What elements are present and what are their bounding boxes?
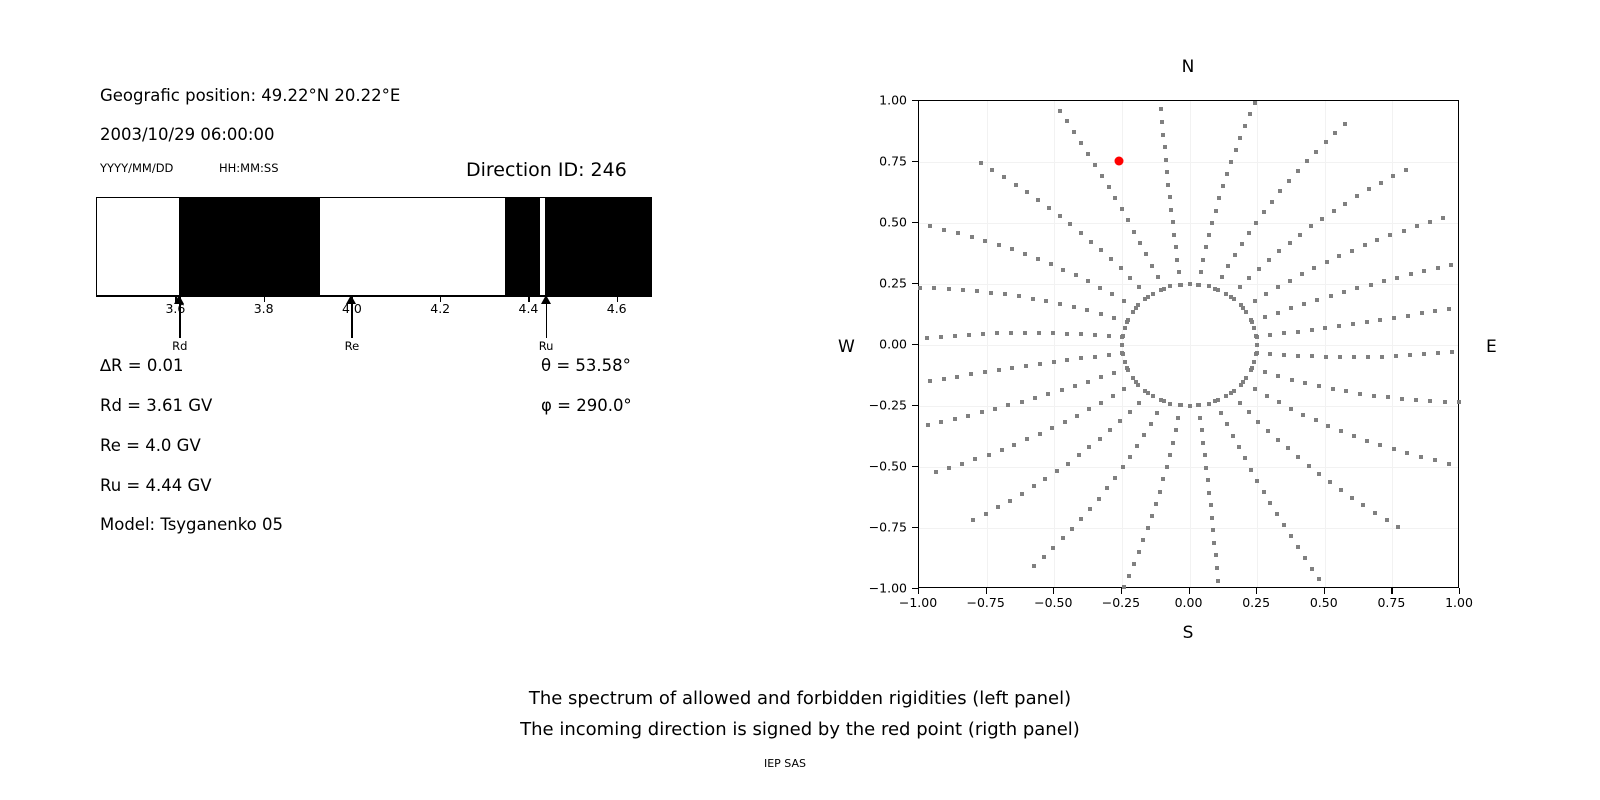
direction-point <box>1036 198 1040 202</box>
arrow-head-icon <box>346 295 356 304</box>
direction-point <box>1160 120 1164 124</box>
direction-point <box>1100 174 1104 178</box>
direction-point <box>1380 355 1384 359</box>
direction-point <box>1449 263 1453 267</box>
direction-point <box>1367 187 1371 191</box>
direction-point <box>1256 420 1260 424</box>
direction-point <box>1000 448 1004 452</box>
left-panel: Geografic position: 49.22°N 20.22°E 2003… <box>0 0 800 800</box>
direction-point <box>1023 252 1027 256</box>
direction-point <box>1123 326 1127 330</box>
direction-point <box>1123 360 1127 364</box>
direction-point <box>1121 465 1125 469</box>
direction-point <box>960 462 964 466</box>
direction-point <box>942 228 946 232</box>
direction-point <box>1414 398 1418 402</box>
direction-point <box>1350 249 1354 253</box>
direction-point <box>1249 368 1253 372</box>
direction-point <box>1212 541 1216 545</box>
direction-point <box>1215 566 1219 570</box>
direction-point <box>1207 491 1211 495</box>
direction-point <box>1111 394 1115 398</box>
direction-map-plot-area <box>918 100 1459 588</box>
direction-point <box>1099 375 1103 379</box>
direction-point <box>1262 210 1266 214</box>
direction-point <box>1263 315 1267 319</box>
compass-south-label: S <box>1183 623 1194 643</box>
direction-point <box>1220 275 1224 279</box>
y-axis-tick <box>912 161 918 162</box>
direction-point <box>1388 233 1392 237</box>
direction-point <box>1325 260 1329 264</box>
direction-point <box>1033 396 1037 400</box>
direction-point <box>1132 562 1136 566</box>
direction-point <box>1146 526 1150 530</box>
direction-point <box>1079 332 1083 336</box>
direction-point <box>1214 209 1218 213</box>
direction-point <box>1207 233 1211 237</box>
direction-point <box>1175 258 1179 262</box>
direction-point <box>1087 445 1091 449</box>
x-axis-tick <box>918 588 919 594</box>
direction-point <box>1079 141 1083 145</box>
spectrum-tick-label: 4.4 <box>518 301 538 316</box>
direction-point <box>1396 525 1400 529</box>
direction-point <box>1268 501 1272 505</box>
direction-point <box>1290 378 1294 382</box>
direction-point <box>1331 387 1335 391</box>
direction-point <box>1395 276 1399 280</box>
direction-point <box>1159 107 1163 111</box>
direction-point <box>1265 394 1269 398</box>
direction-point <box>1214 553 1218 557</box>
forbidden-band <box>545 198 652 295</box>
direction-point <box>1099 248 1103 252</box>
direction-point <box>1108 428 1112 432</box>
direction-point <box>1087 407 1091 411</box>
param-theta: θ = 53.58° <box>541 356 631 375</box>
direction-point <box>1402 229 1406 233</box>
direction-point <box>1406 314 1410 318</box>
direction-point <box>1017 294 1021 298</box>
direction-point <box>989 291 993 295</box>
direction-point <box>1060 388 1064 392</box>
direction-point <box>1128 276 1132 280</box>
direction-point <box>1159 398 1163 402</box>
direction-point <box>1122 585 1126 589</box>
direction-point <box>1014 183 1018 187</box>
direction-point <box>1137 401 1141 405</box>
direction-point <box>1224 394 1228 398</box>
direction-point <box>1263 370 1267 374</box>
direction-point <box>1428 399 1432 403</box>
direction-point <box>1289 306 1293 310</box>
y-axis-tick-label: 0.50 <box>879 215 907 230</box>
direction-point <box>953 417 957 421</box>
direction-point <box>1392 447 1396 451</box>
direction-point <box>1268 333 1272 337</box>
direction-point <box>1373 511 1377 515</box>
direction-point <box>1119 266 1123 270</box>
direction-point <box>1070 527 1074 531</box>
direction-point <box>1249 468 1253 472</box>
datetime-label: 2003/10/29 06:00:00 <box>100 125 274 144</box>
direction-point <box>1433 458 1437 462</box>
direction-point <box>1378 443 1382 447</box>
param-delta-r: ∆R = 0.01 <box>100 356 184 375</box>
direction-point <box>1201 441 1205 445</box>
direction-point <box>1136 383 1140 387</box>
direction-point <box>1044 299 1048 303</box>
direction-point <box>1052 360 1056 364</box>
direction-point <box>1282 353 1286 357</box>
direction-point <box>918 286 922 290</box>
direction-point <box>1247 276 1251 280</box>
direction-point <box>1324 140 1328 144</box>
direction-point <box>1188 282 1192 286</box>
x-axis-tick <box>1053 588 1054 594</box>
direction-point <box>1120 207 1124 211</box>
direction-point <box>1178 283 1182 287</box>
direction-point <box>970 235 974 239</box>
direction-point <box>1365 439 1369 443</box>
direction-point <box>932 286 936 290</box>
direction-point <box>1072 305 1076 309</box>
direction-point <box>1405 451 1409 455</box>
direction-point <box>1312 266 1316 270</box>
direction-point <box>1121 352 1125 356</box>
direction-point <box>928 379 932 383</box>
direction-point <box>1118 419 1122 423</box>
direction-point <box>1105 486 1109 490</box>
direction-point <box>1204 245 1208 249</box>
direction-point <box>1339 429 1343 433</box>
direction-point <box>1204 466 1208 470</box>
direction-point <box>1249 318 1253 322</box>
direction-point <box>1419 455 1423 459</box>
direction-point <box>1355 286 1359 290</box>
direction-point <box>1142 433 1146 437</box>
direction-point <box>980 410 984 414</box>
direction-point <box>1350 496 1354 500</box>
direction-point <box>1121 334 1125 338</box>
direction-point <box>1207 402 1211 406</box>
direction-point <box>1144 252 1148 256</box>
compass-west-label: W <box>838 337 855 357</box>
y-axis-tick <box>912 283 918 284</box>
direction-point <box>1177 270 1181 274</box>
direction-point <box>1135 444 1139 448</box>
direction-point <box>1231 434 1235 438</box>
direction-point <box>1296 169 1300 173</box>
direction-point <box>1252 360 1256 364</box>
direction-point <box>1342 290 1346 294</box>
direction-point <box>1149 422 1153 426</box>
direction-point <box>1317 472 1321 476</box>
direction-point <box>1404 168 1408 172</box>
direction-point <box>1211 528 1215 532</box>
direction-point <box>1126 218 1130 222</box>
direction-point <box>1058 302 1062 306</box>
direction-point <box>1206 478 1210 482</box>
direction-point <box>1006 403 1010 407</box>
direction-point <box>1296 354 1300 358</box>
direction-point <box>1050 426 1054 430</box>
direction-point <box>1072 130 1076 134</box>
direction-point <box>1165 465 1169 469</box>
direction-point <box>1163 145 1167 149</box>
direction-point <box>1361 503 1365 507</box>
arrow-head-icon <box>174 295 184 304</box>
direction-point <box>1232 389 1236 393</box>
direction-point <box>1036 257 1040 261</box>
direction-point <box>1210 516 1214 520</box>
direction-point <box>1188 404 1192 408</box>
direction-point <box>1131 310 1135 314</box>
direction-point <box>1337 254 1341 258</box>
direction-point <box>1200 428 1204 432</box>
direction-point <box>1392 316 1396 320</box>
direction-point <box>1343 202 1347 206</box>
direction-point <box>1086 279 1090 283</box>
direction-point <box>1203 453 1207 457</box>
forbidden-band <box>505 198 540 295</box>
direction-point <box>939 335 943 339</box>
direction-point <box>1240 242 1244 246</box>
direction-point <box>983 370 987 374</box>
direction-point <box>1216 288 1220 292</box>
direction-point <box>1264 292 1268 296</box>
direction-point <box>1355 194 1359 198</box>
direction-point <box>1176 416 1180 420</box>
direction-point <box>1282 331 1286 335</box>
direction-point <box>1363 243 1367 247</box>
spectrum-tick-label: 4.6 <box>607 301 627 316</box>
direction-point <box>1232 297 1236 301</box>
direction-point <box>1138 241 1142 245</box>
direction-point <box>1141 538 1145 542</box>
direction-point <box>1168 453 1172 457</box>
gridline-horizontal <box>919 162 1458 163</box>
direction-point <box>1247 231 1251 235</box>
direction-point <box>1408 353 1412 357</box>
direction-point <box>1352 355 1356 359</box>
y-axis-tick <box>912 222 918 223</box>
direction-point <box>1436 351 1440 355</box>
x-axis-tick <box>1391 588 1392 594</box>
direction-point <box>1164 158 1168 162</box>
direction-point <box>1098 286 1102 290</box>
direction-point <box>1032 564 1036 568</box>
direction-point <box>1422 352 1426 356</box>
direction-point <box>966 414 970 418</box>
direction-point <box>1047 206 1051 210</box>
rigidity-spectrum-bar <box>96 197 652 296</box>
compass-east-label: E <box>1486 337 1497 357</box>
direction-point <box>1166 183 1170 187</box>
direction-point <box>1266 429 1270 433</box>
direction-point <box>1436 266 1440 270</box>
footer-label: IEP SAS <box>0 757 1570 770</box>
direction-point <box>1086 380 1090 384</box>
direction-point <box>1073 384 1077 388</box>
direction-point <box>1267 258 1271 262</box>
direction-point <box>1233 253 1237 257</box>
direction-point <box>1216 398 1220 402</box>
direction-point <box>1079 231 1083 235</box>
direction-point <box>1093 333 1097 337</box>
direction-point <box>1061 536 1065 540</box>
direction-point <box>1310 328 1314 332</box>
direction-point <box>1229 160 1233 164</box>
direction-point <box>984 512 988 516</box>
direction-point <box>1262 490 1266 494</box>
direction-point <box>926 423 930 427</box>
direction-point <box>1385 518 1389 522</box>
direction-point <box>1168 284 1172 288</box>
direction-point <box>979 161 983 165</box>
direction-point <box>1003 292 1007 296</box>
direction-point <box>1217 196 1221 200</box>
direction-point <box>1252 326 1256 330</box>
direction-point <box>1315 298 1319 302</box>
direction-point <box>1343 122 1347 126</box>
direction-point <box>1150 514 1154 518</box>
y-axis-tick <box>912 100 918 101</box>
direction-point <box>1113 196 1117 200</box>
direction-point <box>1323 326 1327 330</box>
direction-point <box>1171 441 1175 445</box>
direction-point <box>1286 446 1290 450</box>
direction-point <box>987 453 991 457</box>
direction-point <box>1248 112 1252 116</box>
direction-point <box>1332 209 1336 213</box>
marker-label: Ru <box>539 339 554 353</box>
x-axis-tick-label: −0.25 <box>1102 595 1140 610</box>
y-axis-tick <box>912 527 918 528</box>
direction-point <box>1288 279 1292 283</box>
selected-direction-point[interactable] <box>1115 156 1124 165</box>
direction-point <box>1275 512 1279 516</box>
direction-point <box>1441 216 1445 220</box>
direction-point <box>1159 288 1163 292</box>
direction-point <box>1093 163 1097 167</box>
direction-point <box>956 231 960 235</box>
gridline-vertical <box>1054 101 1055 587</box>
direction-point <box>947 466 951 470</box>
direction-point <box>1009 331 1013 335</box>
direction-point <box>1024 364 1028 368</box>
direction-point <box>1329 294 1333 298</box>
direction-point <box>1450 350 1454 354</box>
direction-map-panel: −1.00−0.500.000.501.00−0.75−0.250.250.75… <box>800 0 1600 800</box>
direction-point <box>934 470 938 474</box>
direction-point <box>1037 331 1041 335</box>
direction-point <box>1420 311 1424 315</box>
direction-point <box>1151 394 1155 398</box>
direction-point <box>1020 400 1024 404</box>
direction-point <box>1151 292 1155 296</box>
direction-point <box>1032 484 1036 488</box>
direction-point <box>1058 109 1062 113</box>
direction-point <box>1270 200 1274 204</box>
direction-point <box>1300 272 1304 276</box>
param-re: Re = 4.0 GV <box>100 436 201 455</box>
direction-point <box>981 332 985 336</box>
direction-point <box>1058 214 1062 218</box>
x-axis-tick-label: −0.50 <box>1034 595 1072 610</box>
spectrum-tick-label: 4.2 <box>430 301 450 316</box>
gridline-horizontal <box>919 223 1458 224</box>
direction-point <box>1086 152 1090 156</box>
direction-point <box>1268 352 1272 356</box>
direction-point <box>1238 401 1242 405</box>
direction-point <box>1112 371 1116 375</box>
direction-point <box>1066 462 1070 466</box>
direction-id-label: Direction ID: 246 <box>466 159 627 181</box>
direction-point <box>1288 241 1292 245</box>
direction-point <box>1132 230 1136 234</box>
direction-point <box>1422 269 1426 273</box>
direction-point <box>1239 383 1243 387</box>
direction-point <box>1244 376 1248 380</box>
direction-point <box>1075 414 1079 418</box>
direction-point <box>1447 307 1451 311</box>
direction-point <box>942 377 946 381</box>
direction-point <box>1020 492 1024 496</box>
direction-point <box>1171 220 1175 224</box>
direction-point <box>1172 233 1176 237</box>
direction-point <box>1219 411 1223 415</box>
direction-point <box>1049 262 1053 266</box>
direction-point <box>1085 308 1089 312</box>
direction-point <box>947 287 951 291</box>
direction-point <box>1372 394 1376 398</box>
direction-point <box>1326 424 1330 428</box>
direction-point <box>961 288 965 292</box>
direction-point <box>1137 550 1141 554</box>
direction-point <box>1051 331 1055 335</box>
direction-point <box>1386 395 1390 399</box>
direction-point <box>1221 184 1225 188</box>
direction-point <box>1301 413 1305 417</box>
direction-point <box>1366 355 1370 359</box>
direction-point <box>1415 224 1419 228</box>
direction-point <box>1131 376 1135 380</box>
direction-point <box>973 457 977 461</box>
direction-point <box>993 407 997 411</box>
x-axis-tick <box>986 588 987 594</box>
direction-point <box>1278 189 1282 193</box>
y-axis-tick-label: 1.00 <box>879 93 907 108</box>
direction-point <box>1128 410 1132 414</box>
y-axis-tick-label: 0.25 <box>879 276 907 291</box>
direction-point <box>967 333 971 337</box>
direction-point <box>971 518 975 522</box>
param-rd: Rd = 3.61 GV <box>100 396 212 415</box>
direction-point <box>1099 401 1103 405</box>
direction-point <box>1254 221 1258 225</box>
gridline-vertical <box>1325 101 1326 587</box>
direction-point <box>1126 368 1130 372</box>
direction-point <box>1282 523 1286 527</box>
direction-point <box>1042 555 1046 559</box>
direction-point <box>1150 264 1154 268</box>
direction-point <box>1012 443 1016 447</box>
direction-point <box>1302 302 1306 306</box>
direction-point <box>1154 502 1158 506</box>
direction-point <box>1010 366 1014 370</box>
